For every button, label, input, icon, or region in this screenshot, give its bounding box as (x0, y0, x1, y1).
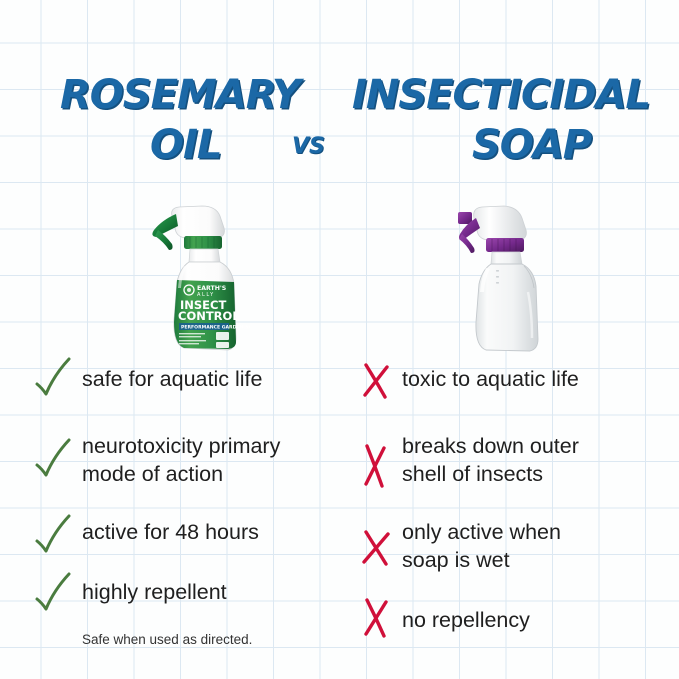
list-item: only active when soap is wet (358, 518, 658, 574)
list-item: breaks down outer shell of insects (358, 432, 658, 488)
list-item-label: highly repellent (82, 578, 227, 606)
spray-bottle-green-icon: EARTH'S ALLY INSECT CONTROL PERFORMANCE … (140, 192, 250, 352)
title-rosemary-oil-line1: ROSEMARY (60, 72, 300, 118)
check-icon (34, 434, 74, 480)
svg-text:CONTROL: CONTROL (178, 309, 240, 323)
svg-text:EARTH'S: EARTH'S (197, 285, 226, 292)
title-rosemary-oil-line2: OIL (150, 122, 221, 168)
list-item-label: neurotoxicity primary mode of action (82, 432, 280, 488)
check-icon (34, 353, 74, 399)
infographic-canvas: ROSEMARY OIL VS INSECTICIDAL SOAP (0, 0, 679, 679)
list-item-label: breaks down outer shell of insects (402, 432, 579, 488)
cross-icon (358, 594, 398, 640)
insecticidal-soap-product-image (440, 192, 550, 352)
cross-icon (358, 524, 398, 570)
list-item-label: active for 48 hours (82, 518, 259, 546)
title-versus: VS (292, 134, 325, 159)
page-title: ROSEMARY OIL VS INSECTICIDAL SOAP (0, 60, 679, 170)
footnote-disclaimer: Safe when used as directed. (82, 632, 252, 647)
cross-icon (358, 357, 398, 403)
list-item-label: safe for aquatic life (82, 365, 262, 393)
list-item: active for 48 hours (34, 518, 334, 546)
list-item: highly repellent (34, 578, 334, 606)
svg-text:PERFORMANCE GARDENING: PERFORMANCE GARDENING (181, 325, 250, 331)
list-item-label: toxic to aquatic life (402, 365, 579, 393)
check-icon (34, 510, 74, 556)
title-insecticidal-soap-line1: INSECTICIDAL (352, 72, 650, 118)
rosemary-oil-product-image: EARTH'S ALLY INSECT CONTROL PERFORMANCE … (140, 192, 250, 352)
spray-bottle-purple-icon (440, 192, 550, 352)
list-item: no repellency (358, 606, 658, 634)
cross-icon (358, 442, 398, 488)
title-insecticidal-soap-line2: SOAP (472, 122, 591, 168)
list-item: safe for aquatic life (34, 365, 334, 393)
list-item-label: only active when soap is wet (402, 518, 561, 574)
list-item-label: no repellency (402, 606, 530, 634)
list-item: toxic to aquatic life (358, 365, 658, 393)
check-icon (34, 568, 74, 614)
list-item: neurotoxicity primary mode of action (34, 432, 344, 488)
